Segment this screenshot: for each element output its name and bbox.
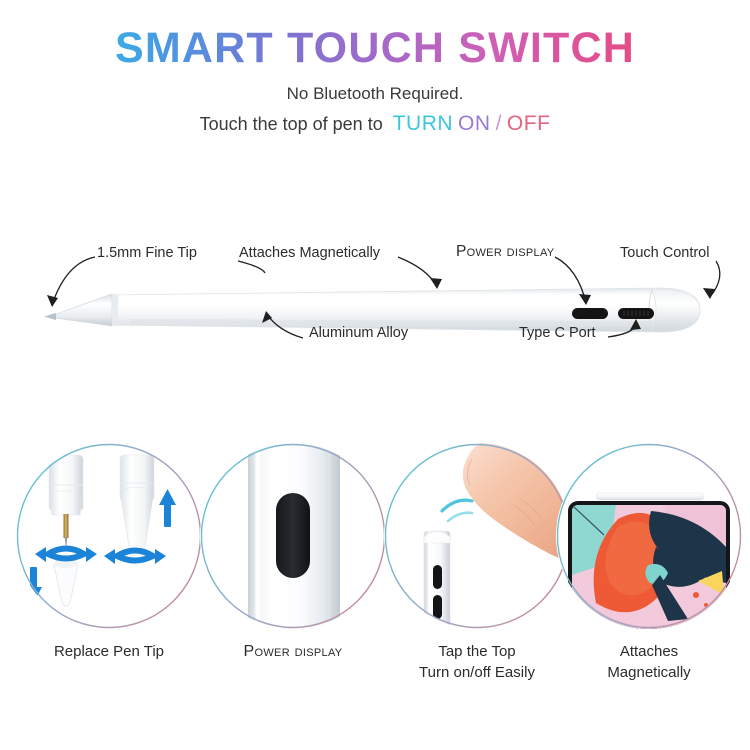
caption-attaches-magnetically: Attaches Magnetically [556,641,742,684]
label-power-display: Power display [456,243,554,261]
infographic-page: SMART TOUCH SWITCH No Bluetooth Required… [0,0,750,750]
label-touch-control: Touch Control [620,245,709,261]
caption-tap-the-top: Tap the Top Turn on/off Easily [384,641,570,684]
label-attaches-magnetically: Attaches Magnetically [239,245,380,261]
page-title: SMART TOUCH SWITCH [0,24,750,73]
caption-replace-pen-tip: Replace Pen Tip [16,641,202,662]
subtitle-touch-instruction: Touch the top of pen toTURN ON / OFF [0,112,750,136]
caption-tap-line1: Tap the Top [384,641,570,662]
feature-attaches-magnetically: Attaches Magnetically [556,443,742,684]
caption-attaches-line2: Magnetically [556,662,742,683]
feature-circles: Replace Pen Tip [0,443,750,743]
subtitle-turn: TURN [393,112,453,135]
subtitle-prefix: Touch the top of pen to [200,114,383,134]
feature-tap-the-top: Tap the Top Turn on/off Easily [384,443,570,684]
label-fine-tip: 1.5mm Fine Tip [97,245,197,261]
leader-fine-tip [52,257,95,305]
feature-replace-pen-tip: Replace Pen Tip [16,443,202,662]
label-type-c-port: Type C Port [519,325,596,341]
subtitle-off: OFF [507,112,551,135]
subtitle-no-bluetooth: No Bluetooth Required. [0,84,750,104]
leader-attaches [398,257,437,287]
pen-diagram: 1.5mm Fine Tip Attaches Magnetically Pow… [0,225,750,375]
circle-ring [16,443,202,629]
caption-attaches-line1: Attaches [556,641,742,662]
caption-tap-line2: Turn on/off Easily [384,662,570,683]
circle-ring [200,443,386,629]
feature-power-display: Power display [200,443,386,664]
subtitle-slash: / [496,112,502,135]
label-aluminum-alloy: Aluminum Alloy [309,325,408,341]
leader-attaches-1 [238,261,265,273]
circle-ring [384,443,570,629]
caption-power-display: Power display [200,641,386,664]
circle-ring [556,443,742,629]
subtitle-on: ON [458,112,491,135]
